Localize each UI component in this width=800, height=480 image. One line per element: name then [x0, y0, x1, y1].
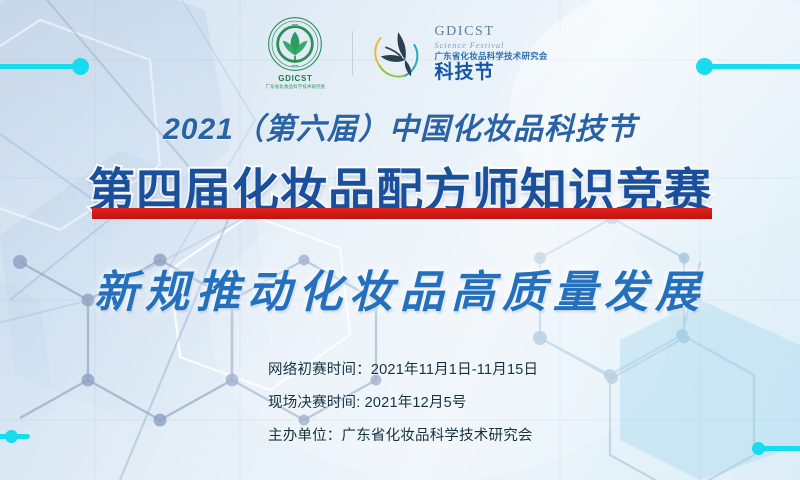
cyan-node-bottom-right [752, 442, 765, 455]
info-line-final: 现场决赛时间: 2021年12月5号 [268, 391, 538, 412]
cyan-node-bottom-left [5, 430, 18, 443]
festival-en-line1: GDICST [434, 25, 547, 39]
association-abbrev: GDICST [278, 74, 312, 83]
info-line-preliminary: 网络初赛时间：2021年11月1日-11月15日 [268, 358, 538, 379]
festival-cn-name: 科技节 [434, 63, 547, 82]
logo-divider [352, 31, 353, 75]
association-logo: ••••• ••••• GDICST 广东省化妆品科学技术研究会 [252, 16, 338, 90]
cyan-accent-bar-bottom-right [762, 446, 800, 451]
festival-wordmark: GDICST Science Festival 广东省化妆品科学技术研究会 科技… [434, 25, 547, 82]
poster-canvas: ••••• ••••• GDICST 广东省化妆品科学技术研究会 GDICST … [0, 0, 800, 480]
info-line-organizer: 主办单位：广东省化妆品科学技术研究会 [268, 424, 538, 445]
svg-text:•••••: ••••• [292, 23, 299, 27]
festival-logo: GDICST Science Festival 广东省化妆品科学技术研究会 科技… [367, 24, 547, 82]
leaf-seal-icon: ••••• ••••• [267, 16, 323, 72]
headline-underline-bar [92, 208, 712, 219]
cyan-accent-bar-bottom-left [0, 434, 30, 439]
association-full-name: 广东省化妆品科学技术研究会 [266, 84, 326, 90]
festival-swirl-icon [367, 24, 427, 82]
logo-row: ••••• ••••• GDICST 广东省化妆品科学技术研究会 GDICST … [0, 16, 800, 90]
event-title-line: 2021（第六届）中国化妆品科技节 [0, 104, 800, 148]
svg-text:•••••: ••••• [292, 63, 299, 67]
info-block: 网络初赛时间：2021年11月1日-11月15日 现场决赛时间: 2021年12… [268, 358, 538, 445]
slogan-calligraphy: 新规推动化妆品高质量发展 [0, 256, 800, 320]
festival-en-line2: Science Festival [434, 41, 547, 50]
festival-cn-org: 广东省化妆品科学技术研究会 [434, 52, 547, 61]
